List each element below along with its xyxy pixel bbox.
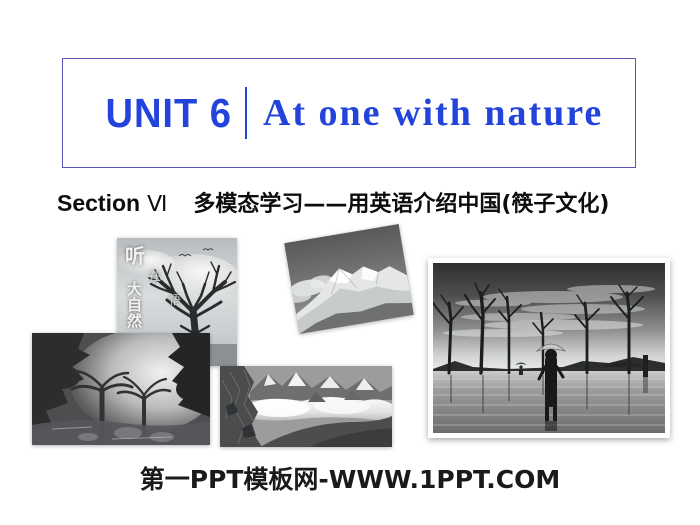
unit-title-box: UNIT 6 At one with nature (62, 58, 636, 168)
section-roman-numeral: Ⅵ (140, 191, 167, 217)
misty-forest-photo (32, 333, 210, 445)
snow-mountain-photo (284, 224, 414, 334)
section-word: Section (57, 190, 140, 217)
overlay-word-daziran: 大自然 (127, 282, 149, 329)
title-separator-bar (245, 87, 247, 139)
overlay-char-zai: 在 (149, 270, 161, 282)
bare-tree-photo: 听 在 悟 大自然 (117, 238, 237, 366)
section-chinese-subtitle: 多模态学习——用英语介绍中国(筷子文化) (167, 186, 609, 218)
slide-canvas: UNIT 6 At one with nature Section Ⅵ 多模态学… (0, 0, 700, 525)
section-heading: Section Ⅵ 多模态学习——用英语介绍中国(筷子文化) (57, 186, 610, 218)
flooded-lake-photo (428, 258, 670, 438)
overlay-char-wu: 悟 (169, 294, 181, 306)
cloud-sea-canyon-photo (220, 366, 392, 447)
unit-number-label: UNIT 6 (105, 93, 244, 134)
footer-watermark: 第一PPT模板网-WWW.1PPT.COM (0, 460, 700, 496)
unit-title-text: At one with nature (263, 94, 603, 132)
unit-title-row: UNIT 6 At one with nature (63, 87, 635, 139)
overlay-char-ting: 听 (125, 246, 145, 266)
